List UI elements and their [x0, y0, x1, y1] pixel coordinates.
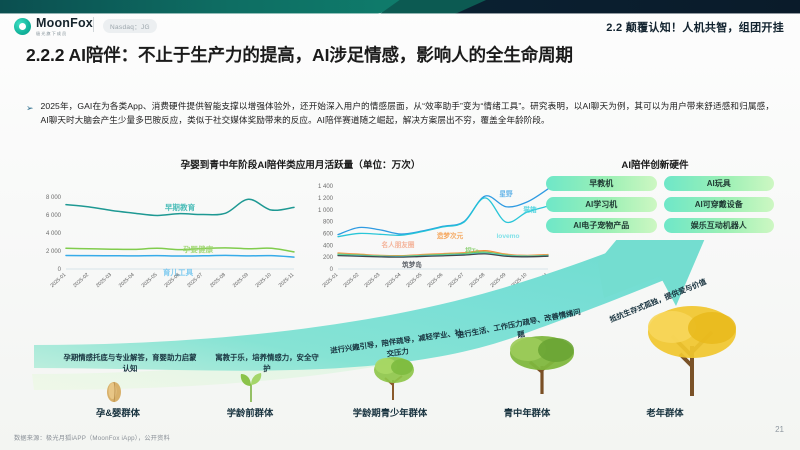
- stage-label: 青中年群体: [462, 405, 592, 419]
- stage-label: 学龄期青少年群体: [315, 405, 465, 419]
- hardware-pill[interactable]: AI玩具: [664, 176, 775, 191]
- stage-text: 青中年群体: [462, 405, 592, 419]
- page-number: 21: [775, 425, 784, 434]
- section-title: 2.2 颠覆认知！人机共智，组团开挂: [606, 19, 784, 35]
- hardware-pill[interactable]: 娱乐互动机器人: [664, 218, 775, 233]
- svg-text:800: 800: [323, 220, 334, 226]
- svg-text:1 000: 1 000: [318, 208, 334, 214]
- top-decoration-band: [0, 0, 800, 14]
- svg-text:8 000: 8 000: [46, 195, 62, 201]
- stage-label: 学龄前群体: [190, 405, 310, 419]
- stage-label: 孕&婴群体: [58, 405, 178, 419]
- hardware-pill[interactable]: 早教机: [546, 176, 657, 191]
- seed-icon: [103, 378, 125, 404]
- svg-text:猫箱: 猫箱: [523, 205, 537, 214]
- arrow-note: 寓教于乐，培养情感力，安全守护: [212, 352, 322, 374]
- svg-text:1 200: 1 200: [318, 196, 334, 202]
- stage-text: 老年群体: [600, 405, 730, 419]
- stage-text: 孕&婴群体: [58, 405, 178, 419]
- bullet-icon: ➢: [26, 100, 34, 128]
- body-text: 2025年，GAI在为各类App、消费硬件提供智能支撑以增强体验外，还开始深入用…: [41, 100, 774, 128]
- hardware-pill[interactable]: AI学习机: [546, 197, 657, 212]
- svg-text:6 000: 6 000: [46, 213, 62, 219]
- slide-root: MoonFox 极光旗下成员 Nasdaq：JG 2.2 颠覆认知！人机共智，组…: [0, 0, 800, 450]
- svg-text:4 000: 4 000: [46, 231, 62, 237]
- svg-text:1 400: 1 400: [318, 184, 334, 190]
- data-source-note: 数据来源：极光月狐iAPP（MoonFox iApp），公开资料: [14, 433, 170, 442]
- stage-text: 学龄期青少年群体: [315, 405, 465, 419]
- header-divider: [93, 17, 94, 32]
- svg-text:星野: 星野: [499, 189, 513, 198]
- sprout-icon: [238, 368, 264, 402]
- brand-name: MoonFox: [36, 17, 93, 30]
- hardware-pill-grid: 早教机 AI玩具 AI学习机 AI可穿戴设备 AI电子宠物产品 娱乐互动机器人: [546, 176, 774, 233]
- body-paragraph: ➢ 2025年，GAI在为各类App、消费硬件提供智能支撑以增强体验外，还开始深…: [26, 100, 774, 128]
- young-tree-icon: [368, 352, 420, 400]
- slide-header: MoonFox 极光旗下成员 Nasdaq：JG 2.2 颠覆认知！人机共智，组…: [0, 14, 800, 40]
- svg-text:造梦次元: 造梦次元: [437, 231, 464, 240]
- arrow-note: 孕期情感托底与专业解答，育婴助力启蒙认知: [60, 352, 200, 374]
- moonfox-logo-icon: [14, 18, 31, 35]
- brand-logo: MoonFox 极光旗下成员: [14, 17, 93, 36]
- stage-label: 老年群体: [600, 405, 730, 419]
- ticker-badge: Nasdaq：JG: [103, 19, 157, 33]
- svg-text:早期教育: 早期教育: [165, 202, 196, 212]
- mature-tree-icon: [500, 330, 584, 394]
- stage-text: 学龄前群体: [190, 405, 310, 419]
- hardware-pill[interactable]: AI可穿戴设备: [664, 197, 775, 212]
- page-title: 2.2.2 AI陪伴：不止于生产力的提高，AI涉足情感，影响人的全生命周期: [26, 43, 774, 67]
- brand-subtitle: 极光旗下成员: [36, 32, 93, 36]
- charts-heading: 孕婴到青中年阶段AI陪伴类应用月活跃量（单位：万次）: [128, 157, 473, 171]
- hardware-pill[interactable]: AI电子宠物产品: [546, 218, 657, 233]
- svg-text:lovemo: lovemo: [496, 233, 519, 240]
- hardware-heading: AI陪伴创新硬件: [560, 157, 750, 171]
- old-tree-icon: [638, 300, 746, 396]
- svg-text:600: 600: [323, 232, 334, 238]
